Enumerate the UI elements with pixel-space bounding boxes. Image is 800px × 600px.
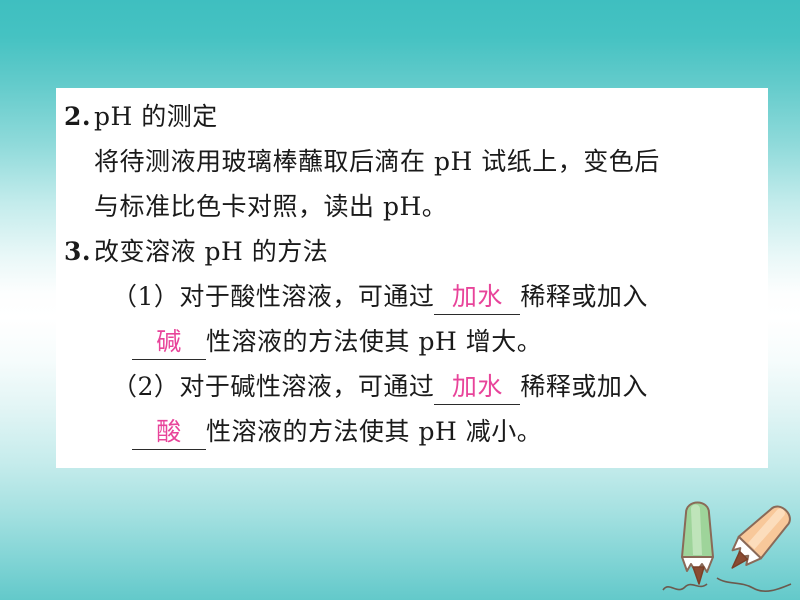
body-text: 2.pH 的测定 将待测液用玻璃棒蘸取后滴在 pH 试纸上，变色后 与标准比色卡… <box>64 94 760 454</box>
squiggle-line-left <box>663 584 707 590</box>
item-2-line-2-text: 与标准比色卡对照，读出 pH。 <box>94 192 447 221</box>
sub-2-text-c: 性溶液的方法使其 pH 减小。 <box>206 417 542 446</box>
item-2-title: pH 的测定 <box>94 102 218 131</box>
item-2-number: 2. <box>64 94 94 139</box>
item-2-line-2: 与标准比色卡对照，读出 pH。 <box>64 184 760 229</box>
item-3-sub-1-line-1: （1）对于酸性溶液，可通过加水稀释或加入 <box>64 274 760 319</box>
slide-canvas: 2.pH 的测定 将待测液用玻璃棒蘸取后滴在 pH 试纸上，变色后 与标准比色卡… <box>0 0 800 600</box>
item-3-heading: 3.改变溶液 pH 的方法 <box>64 229 760 274</box>
squiggle-line-right <box>717 578 791 591</box>
item-3-title: 改变溶液 pH 的方法 <box>94 237 328 266</box>
content-card: 2.pH 的测定 将待测液用玻璃棒蘸取后滴在 pH 试纸上，变色后 与标准比色卡… <box>56 88 768 468</box>
item-2-line-1-text: 将待测液用玻璃棒蘸取后滴在 pH 试纸上，变色后 <box>94 147 660 176</box>
orange-pencil-icon <box>720 500 797 578</box>
item-3-number: 3. <box>64 229 94 274</box>
sub-1-answer-blank-a[interactable]: 加水 <box>434 280 520 315</box>
sub-1-text-a: 对于酸性溶液，可通过 <box>179 282 434 311</box>
sub-2-answer-blank-a[interactable]: 加水 <box>434 370 520 405</box>
pencils-decoration <box>655 485 800 600</box>
sub-1-text-c: 性溶液的方法使其 pH 增大。 <box>206 327 542 356</box>
item-3-sub-2-line-1: （2）对于碱性溶液，可通过加水稀释或加入 <box>64 364 760 409</box>
sub-1-text-b: 稀释或加入 <box>520 282 648 311</box>
item-2-heading: 2.pH 的测定 <box>64 94 760 139</box>
green-pencil-icon <box>682 503 713 585</box>
sub-1-label: （1） <box>112 282 179 311</box>
sub-2-text-a: 对于碱性溶液，可通过 <box>179 372 434 401</box>
sub-2-text-b: 稀释或加入 <box>520 372 648 401</box>
item-3-sub-1-line-2: 碱性溶液的方法使其 pH 增大。 <box>64 319 760 364</box>
item-3-sub-2-line-2: 酸性溶液的方法使其 pH 减小。 <box>64 409 760 454</box>
item-2-line-1: 将待测液用玻璃棒蘸取后滴在 pH 试纸上，变色后 <box>64 139 760 184</box>
sub-1-answer-blank-b[interactable]: 碱 <box>132 325 206 360</box>
sub-2-answer-blank-b[interactable]: 酸 <box>132 415 206 450</box>
sub-2-label: （2） <box>112 372 179 401</box>
